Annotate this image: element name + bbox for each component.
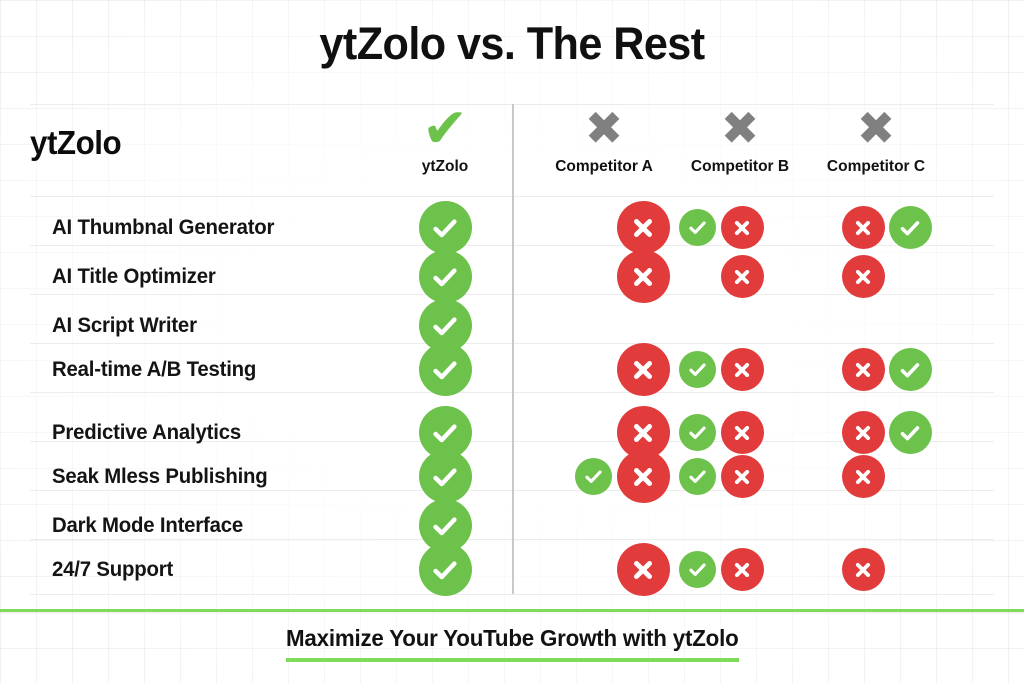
- cross-badge-icon: [721, 548, 764, 591]
- row-separator: [30, 594, 994, 595]
- check-badge-icon: [889, 348, 932, 391]
- footer: Maximize Your YouTube Growth with ytZolo: [0, 625, 1024, 662]
- comparison-card: ytZolo vs. The Rest ytZolo ✔ ytZolo ✖ Co…: [0, 0, 1024, 683]
- cross-badge-icon: [842, 255, 885, 298]
- feature-label: Real-time A/B Testing: [52, 358, 256, 382]
- ytzolo-check-badge-icon: [419, 543, 472, 596]
- feature-label: AI Title Optimizer: [52, 265, 216, 289]
- check-badge-icon: [679, 458, 716, 495]
- cross-badge-icon: [617, 343, 670, 396]
- check-badge-icon: [575, 458, 612, 495]
- ytzolo-check-badge-icon: [419, 343, 472, 396]
- check-badge-icon: [679, 414, 716, 451]
- check-badge-icon: [679, 351, 716, 388]
- check-badge-icon: [679, 551, 716, 588]
- cross-badge-icon: [721, 206, 764, 249]
- feature-label: Dark Mode Interface: [52, 514, 243, 538]
- footer-rule: [0, 609, 1024, 612]
- column-header-ytzolo: ✔ ytZolo: [355, 102, 535, 176]
- cross-badge-icon: [842, 455, 885, 498]
- cross-badge-icon: [721, 455, 764, 498]
- page-title: ytZolo vs. The Rest: [20, 18, 1003, 70]
- column-header-competitor-c: ✖ Competitor C: [786, 102, 966, 176]
- feature-label: Predictive Analytics: [52, 421, 241, 445]
- cross-badge-icon: [617, 201, 670, 254]
- check-badge-icon: [889, 206, 932, 249]
- feature-label: 24/7 Support: [52, 558, 173, 582]
- cross-badge-icon: [721, 255, 764, 298]
- ytzolo-check-badge-icon: [419, 201, 472, 254]
- cross-badge-icon: [617, 543, 670, 596]
- cross-badge-icon: [617, 450, 670, 503]
- column-header-label: Competitor C: [786, 158, 966, 176]
- brand-label: ytZolo: [30, 124, 363, 162]
- ytzolo-check-badge-icon: [419, 250, 472, 303]
- feature-label: AI Thumbnal Generator: [52, 216, 274, 240]
- footer-tagline: Maximize Your YouTube Growth with ytZolo: [286, 625, 739, 662]
- cross-badge-icon: [842, 548, 885, 591]
- check-badge-icon: [679, 209, 716, 246]
- cross-badge-icon: [617, 250, 670, 303]
- feature-label: Seak Mless Publishing: [52, 465, 268, 489]
- cross-badge-icon: [842, 348, 885, 391]
- feature-label: AI Script Writer: [52, 314, 197, 338]
- column-divider: [512, 104, 514, 594]
- cross-badge-icon: [721, 348, 764, 391]
- check-icon: ✔: [355, 102, 535, 154]
- cross-badge-icon: [842, 206, 885, 249]
- ytzolo-check-badge-icon: [419, 450, 472, 503]
- check-badge-icon: [889, 411, 932, 454]
- cross-badge-icon: [842, 411, 885, 454]
- column-header-label: ytZolo: [355, 158, 535, 176]
- cross-badge-icon: [721, 411, 764, 454]
- cross-icon: ✖: [786, 102, 966, 154]
